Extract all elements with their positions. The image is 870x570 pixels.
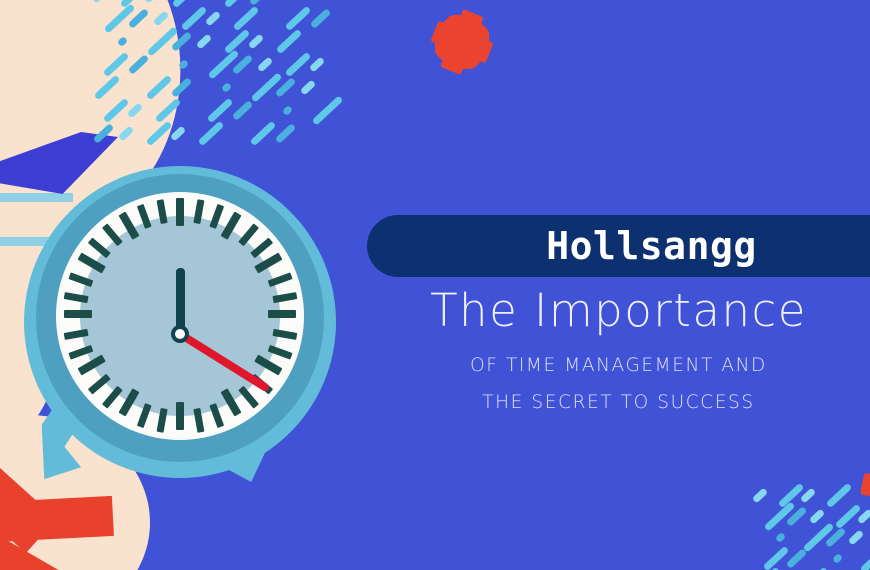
brand-banner: Hollsangg xyxy=(367,215,870,277)
clock-tick xyxy=(63,292,88,303)
diagonal-dash xyxy=(221,82,232,93)
clock-tick xyxy=(78,355,106,376)
clock-tick xyxy=(87,374,110,395)
poster-canvas: Hollsangg The Importance OF TIME MANAGEM… xyxy=(0,0,870,570)
clock-tick xyxy=(156,199,167,224)
clock-tick xyxy=(176,402,184,430)
diagonal-dash xyxy=(196,33,212,49)
diagonal-dash xyxy=(299,0,310,1)
title-text-block: Hollsangg The Importance OF TIME MANAGEM… xyxy=(367,0,870,570)
diagonal-dash xyxy=(309,56,325,72)
clock-tick xyxy=(68,345,93,360)
diagonal-dash xyxy=(249,0,271,6)
diagonal-dash xyxy=(285,52,312,78)
diagonal-dash xyxy=(233,6,260,32)
diagonal-dash xyxy=(310,8,332,29)
diagonal-dash xyxy=(275,123,297,144)
diagonal-dash xyxy=(172,0,199,8)
diagonal-dash xyxy=(282,105,293,116)
diagonal-dash xyxy=(171,31,193,52)
clock-tick xyxy=(272,292,297,303)
clock-tick xyxy=(209,204,224,229)
diagonal-dash xyxy=(127,102,143,118)
diagonal-dash xyxy=(248,33,264,49)
clock-tick xyxy=(238,223,259,246)
diagonal-dash xyxy=(275,77,297,98)
diagonal-dash xyxy=(153,10,169,26)
subtitle-line-2: THE SECRET TO SUCCESS xyxy=(367,392,870,413)
diagonal-dash xyxy=(232,54,254,75)
diagonal-dash xyxy=(285,6,312,32)
clock-tick xyxy=(238,386,259,409)
diagonal-dash xyxy=(103,98,130,124)
diagonal-dash xyxy=(118,125,134,141)
clock-tick xyxy=(101,386,122,409)
diagonal-dash xyxy=(120,0,147,8)
diagonal-dash xyxy=(94,75,121,101)
brand-name: Hollsangg xyxy=(546,224,756,268)
red-bar-horizontal xyxy=(0,496,114,544)
clock-tick xyxy=(78,253,106,274)
diagonal-dash xyxy=(128,54,150,75)
diagonal-dash xyxy=(104,3,136,33)
diagonal-dash-field-top-left xyxy=(0,0,250,170)
red-bar-lower xyxy=(0,528,64,570)
clock-tick xyxy=(136,403,151,428)
clock-tick xyxy=(136,204,151,229)
clock-tick xyxy=(267,272,292,287)
alarm-clock-illustration xyxy=(24,166,336,478)
clock-tick xyxy=(254,355,282,376)
diagonal-dash-field-bottom-right xyxy=(0,0,250,170)
diagonal-dash xyxy=(170,125,186,141)
clock-tick xyxy=(209,403,224,428)
clock-tick xyxy=(221,388,242,416)
diagonal-dash xyxy=(128,8,150,29)
clock-tick xyxy=(156,408,167,433)
diagonal-dash xyxy=(93,123,115,144)
clock-tick xyxy=(176,198,184,226)
clock-tick xyxy=(64,310,92,318)
diagonal-dash xyxy=(198,121,225,147)
subtitle-line-1: OF TIME MANAGEMENT AND xyxy=(367,355,870,376)
diagonal-dash xyxy=(312,95,344,125)
diagonal-dash xyxy=(251,72,283,102)
clock-tick xyxy=(221,212,242,240)
clock-tick xyxy=(63,329,88,340)
clock-tick xyxy=(193,408,204,433)
diagonal-dash xyxy=(171,77,193,98)
diagonal-dash xyxy=(224,0,251,8)
headline-title: The Importance xyxy=(367,284,870,337)
clock-tick xyxy=(267,345,292,360)
clock-tick xyxy=(119,388,140,416)
diagonal-dash xyxy=(224,29,251,55)
diagonal-dash xyxy=(300,79,316,95)
diagonal-dash xyxy=(103,52,130,78)
diagonal-dash xyxy=(117,36,128,47)
diagonal-dash xyxy=(276,29,303,55)
clock-tick xyxy=(193,199,204,224)
diagonal-dash xyxy=(155,98,182,124)
clock-tick xyxy=(268,310,296,318)
diagonal-dash xyxy=(92,0,108,4)
clock-tick xyxy=(119,212,140,240)
diagonal-dash xyxy=(144,0,160,4)
clock-tick xyxy=(101,223,122,246)
diagonal-dash xyxy=(146,121,173,147)
clock-center-pivot xyxy=(171,325,189,343)
diagonal-dash xyxy=(257,56,273,72)
clock-tick xyxy=(254,253,282,274)
diagonal-dash xyxy=(147,26,179,56)
diagonal-dash xyxy=(146,75,173,101)
diagonal-dash xyxy=(178,59,189,70)
clock-tick xyxy=(250,237,273,258)
diagonal-dash xyxy=(181,6,208,32)
diagonal-dash xyxy=(207,98,234,124)
clock-tick xyxy=(272,329,297,340)
clock-tick xyxy=(68,272,93,287)
diagonal-dash xyxy=(250,121,277,147)
clock-tick xyxy=(87,237,110,258)
diagonal-dash xyxy=(208,49,240,79)
diagonal-dash xyxy=(232,100,254,121)
diagonal-dash xyxy=(205,10,221,26)
